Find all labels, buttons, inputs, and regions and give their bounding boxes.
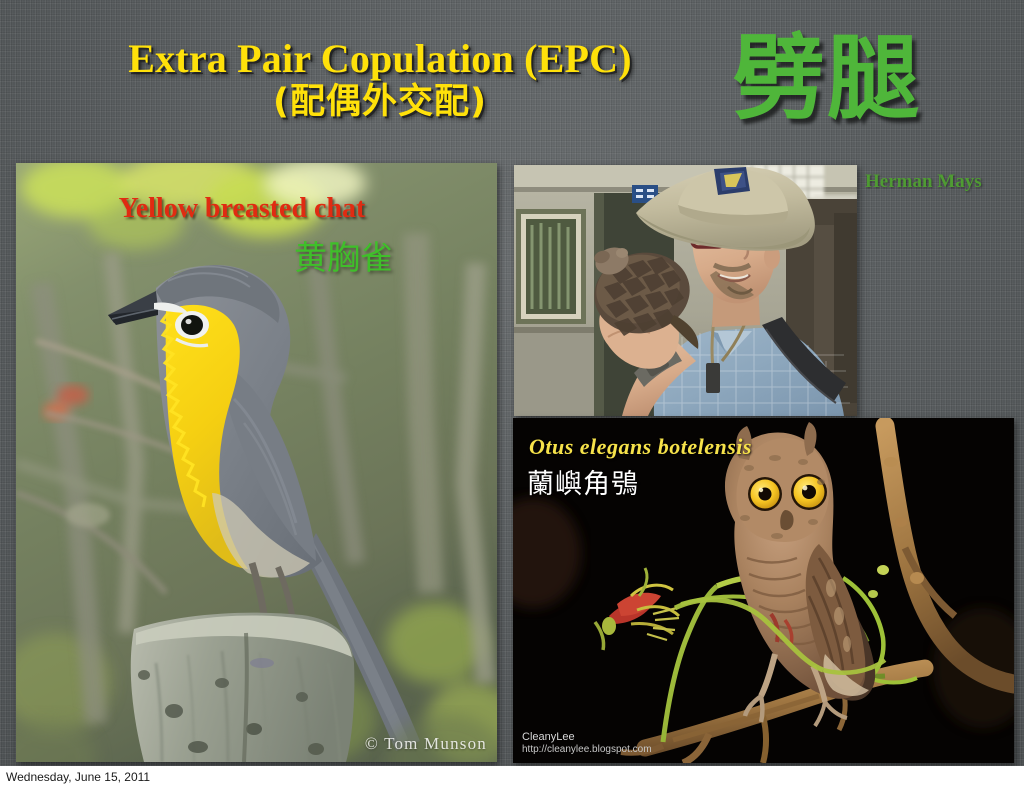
chat-photo-scene: [16, 163, 497, 762]
owl-label-scientific: Otus elegans botelensis: [529, 434, 752, 460]
photo-herman-mays: [514, 165, 857, 416]
footer-date: Wednesday, June 15, 2011: [6, 770, 150, 784]
chat-label-english: Yellow breasted chat: [42, 193, 442, 225]
chat-illustration: [16, 163, 497, 762]
slide-root: Extra Pair Copulation (EPC) (配偶外交配) 劈腿 H…: [0, 0, 1024, 788]
credit-author: Herman Mays: [865, 171, 982, 193]
owl-label-chinese: 蘭嶼角鴞: [527, 462, 639, 501]
footer-bar: Wednesday, June 15, 2011: [0, 766, 1024, 788]
chat-label-chinese: 黄胸雀: [294, 231, 393, 279]
slide-canvas: Extra Pair Copulation (EPC) (配偶外交配) 劈腿 H…: [0, 0, 1024, 766]
chat-photo-credit: © Tom Munson: [365, 734, 487, 754]
page-title: Extra Pair Copulation (EPC) (配偶外交配): [30, 38, 730, 121]
photo-otus-owl: Otus elegans botelensis 蘭嶼角鴞 CleanyLee h…: [513, 418, 1014, 763]
owl-watermark-name: CleanyLee: [522, 731, 652, 744]
owl-watermark-url: http://cleanylee.blogspot.com: [522, 744, 652, 756]
title-english: Extra Pair Copulation (EPC): [30, 38, 730, 80]
photo-yellow-breasted-chat: Yellow breasted chat 黄胸雀 © Tom Munson: [16, 163, 497, 762]
owl-watermark: CleanyLee http://cleanylee.blogspot.com: [522, 731, 652, 755]
headline-chinese: 劈腿: [733, 33, 921, 125]
title-chinese: (配偶外交配): [30, 84, 730, 121]
herman-illustration: [514, 165, 857, 416]
